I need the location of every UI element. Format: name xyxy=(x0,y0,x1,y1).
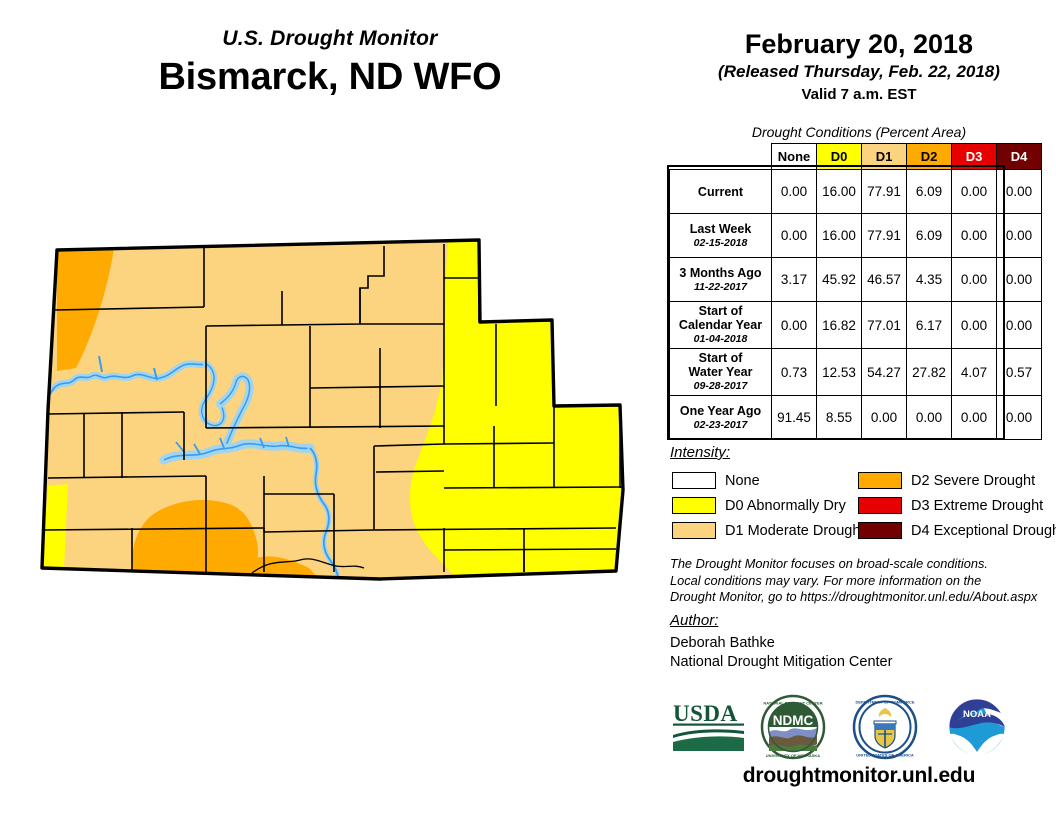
column-header-d0: D0 xyxy=(817,144,862,170)
program-title: U.S. Drought Monitor xyxy=(0,26,660,52)
cell-last-week-d4: 0.00 xyxy=(997,214,1042,258)
map-svg xyxy=(24,228,664,698)
cell-1yr-d0: 8.55 xyxy=(817,396,862,440)
cell-3mo-d4: 0.00 xyxy=(997,258,1042,302)
cell-current-none: 0.00 xyxy=(772,170,817,214)
cell-water-d3: 4.07 xyxy=(952,349,997,396)
legend-swatch-d4 xyxy=(858,522,902,539)
table-header-row: None D0 D1 D2 D3 D4 xyxy=(670,144,1042,170)
east-lake-2 xyxy=(640,288,662,294)
row-label-text: 3 Months Ago xyxy=(679,266,761,280)
valid-time: Valid 7 a.m. EST xyxy=(664,85,1054,105)
row-label-date: 02-15-2018 xyxy=(673,237,768,250)
author-heading: Author: xyxy=(670,612,718,629)
legend-swatch-d1 xyxy=(672,522,716,539)
table-corner-cell xyxy=(670,144,772,170)
table-row: Last Week 02-15-2018 0.00 16.00 77.91 6.… xyxy=(670,214,1042,258)
row-label-text: Current xyxy=(698,185,743,199)
svg-text:DEPARTMENT OF COMMERCE: DEPARTMENT OF COMMERCE xyxy=(855,700,914,705)
column-header-none: None xyxy=(772,144,817,170)
drought-conditions-table: None D0 D1 D2 D3 D4 Current 0.00 16.00 7… xyxy=(669,143,1042,440)
website-url: droughtmonitor.unl.edu xyxy=(664,764,1054,788)
cell-current-d0: 16.00 xyxy=(817,170,862,214)
cell-3mo-d1: 46.57 xyxy=(862,258,907,302)
cell-last-week-d2: 6.09 xyxy=(907,214,952,258)
disclaimer-block: The Drought Monitor focuses on broad-sca… xyxy=(670,556,1055,606)
cell-1yr-d1: 0.00 xyxy=(862,396,907,440)
cell-cal-d0: 16.82 xyxy=(817,302,862,349)
svg-text:UNITED STATES OF AMERICA: UNITED STATES OF AMERICA xyxy=(856,753,914,758)
legend-column-right: D2 Severe Drought D3 Extreme Drought D4 … xyxy=(858,468,1056,543)
column-header-d2: D2 xyxy=(907,144,952,170)
disclaimer-line-3: Drought Monitor, go to https://droughtmo… xyxy=(670,589,1055,606)
author-organization: National Drought Mitigation Center xyxy=(670,653,892,672)
legend-item-d3: D3 Extreme Drought xyxy=(858,493,1056,518)
table-row: 3 Months Ago 11-22-2017 3.17 45.92 46.57… xyxy=(670,258,1042,302)
table-row: Current 0.00 16.00 77.91 6.09 0.00 0.00 xyxy=(670,170,1042,214)
legend-item-d2: D2 Severe Drought xyxy=(858,468,1056,493)
table-row: One Year Ago 02-23-2017 91.45 8.55 0.00 … xyxy=(670,396,1042,440)
row-label-text: Start ofWater Year xyxy=(689,351,753,379)
table-row: Start ofCalendar Year 01-04-2018 0.00 16… xyxy=(670,302,1042,349)
row-label-last-week: Last Week 02-15-2018 xyxy=(670,214,772,258)
legend-label-d0: D0 Abnormally Dry xyxy=(725,498,846,514)
row-label-start-calendar-year: Start ofCalendar Year 01-04-2018 xyxy=(670,302,772,349)
cell-cal-d2: 6.17 xyxy=(907,302,952,349)
cell-3mo-d0: 45.92 xyxy=(817,258,862,302)
legend-item-none: None xyxy=(672,468,864,493)
legend-swatch-d2 xyxy=(858,472,902,489)
legend-column-left: None D0 Abnormally Dry D1 Moderate Droug… xyxy=(672,468,864,543)
legend-label-d3: D3 Extreme Drought xyxy=(911,498,1043,514)
legend-label-d4: D4 Exceptional Drought xyxy=(911,523,1056,539)
row-label-text: Start ofCalendar Year xyxy=(679,304,762,332)
report-date: February 20, 2018 xyxy=(664,28,1054,60)
usdc-logo: DEPARTMENT OF COMMERCE UNITED STATES OF … xyxy=(852,694,918,765)
cell-cal-d1: 77.01 xyxy=(862,302,907,349)
cell-last-week-d1: 77.91 xyxy=(862,214,907,258)
cell-water-d2: 27.82 xyxy=(907,349,952,396)
cell-water-d0: 12.53 xyxy=(817,349,862,396)
cell-last-week-d0: 16.00 xyxy=(817,214,862,258)
row-label-start-water-year: Start ofWater Year 09-28-2017 xyxy=(670,349,772,396)
cell-current-d4: 0.00 xyxy=(997,170,1042,214)
table-row: Start ofWater Year 09-28-2017 0.73 12.53… xyxy=(670,349,1042,396)
ndmc-logo: NDMC NATIONAL DROUGHT CENTER UNIVERSITY … xyxy=(760,694,826,765)
intensity-legend-title: Intensity: xyxy=(670,444,730,461)
row-label-date: 02-23-2017 xyxy=(673,419,768,432)
svg-text:NOAA: NOAA xyxy=(963,709,991,720)
usda-logo: USDA xyxy=(672,701,748,758)
row-label-date: 01-04-2018 xyxy=(673,333,768,346)
row-label-date: 09-28-2017 xyxy=(673,380,768,393)
cell-current-d1: 77.91 xyxy=(862,170,907,214)
legend-item-d0: D0 Abnormally Dry xyxy=(672,493,864,518)
table-caption: Drought Conditions (Percent Area) xyxy=(664,124,1054,141)
map-title-block: U.S. Drought Monitor Bismarck, ND WFO xyxy=(0,26,660,100)
drought-map[interactable] xyxy=(24,228,664,698)
legend-label-d1: D1 Moderate Drought xyxy=(725,523,864,539)
row-label-text: One Year Ago xyxy=(680,404,761,418)
cell-last-week-none: 0.00 xyxy=(772,214,817,258)
legend-label-none: None xyxy=(725,473,760,489)
legend-swatch-d3 xyxy=(858,497,902,514)
cell-cal-d3: 0.00 xyxy=(952,302,997,349)
legend-item-d4: D4 Exceptional Drought xyxy=(858,518,1056,543)
column-header-d1: D1 xyxy=(862,144,907,170)
author-name: Deborah Bathke xyxy=(670,634,892,653)
release-date: (Released Thursday, Feb. 22, 2018) xyxy=(664,61,1054,83)
map-fill-layer xyxy=(24,228,664,698)
cell-3mo-d3: 0.00 xyxy=(952,258,997,302)
east-lake-1 xyxy=(636,238,660,256)
table-body: Current 0.00 16.00 77.91 6.09 0.00 0.00 … xyxy=(670,170,1042,440)
cell-1yr-none: 91.45 xyxy=(772,396,817,440)
legend-swatch-none xyxy=(672,472,716,489)
legend-swatch-d0 xyxy=(672,497,716,514)
cell-water-none: 0.73 xyxy=(772,349,817,396)
region-title: Bismarck, ND WFO xyxy=(0,54,660,100)
cell-3mo-none: 3.17 xyxy=(772,258,817,302)
author-block: Deborah Bathke National Drought Mitigati… xyxy=(670,634,892,672)
disclaimer-line-1: The Drought Monitor focuses on broad-sca… xyxy=(670,556,1055,573)
svg-text:NATIONAL DROUGHT CENTER: NATIONAL DROUGHT CENTER xyxy=(763,701,822,706)
svg-text:UNIVERSITY OF NEBRASKA: UNIVERSITY OF NEBRASKA xyxy=(766,753,820,758)
cell-last-week-d3: 0.00 xyxy=(952,214,997,258)
cell-1yr-d2: 0.00 xyxy=(907,396,952,440)
svg-text:NDMC: NDMC xyxy=(773,713,814,728)
row-label-one-year-ago: One Year Ago 02-23-2017 xyxy=(670,396,772,440)
date-header-block: February 20, 2018 (Released Thursday, Fe… xyxy=(664,28,1054,105)
river-branches xyxy=(350,618,368,644)
cell-water-d4: 0.57 xyxy=(997,349,1042,396)
cell-cal-none: 0.00 xyxy=(772,302,817,349)
noaa-logo: NOAA xyxy=(944,694,1010,765)
row-label-3-months-ago: 3 Months Ago 11-22-2017 xyxy=(670,258,772,302)
column-header-d3: D3 xyxy=(952,144,997,170)
cell-current-d3: 0.00 xyxy=(952,170,997,214)
cell-water-d1: 54.27 xyxy=(862,349,907,396)
cell-1yr-d3: 0.00 xyxy=(952,396,997,440)
column-header-d4: D4 xyxy=(997,144,1042,170)
disclaimer-line-2: Local conditions may vary. For more info… xyxy=(670,573,1055,590)
legend-item-d1: D1 Moderate Drought xyxy=(672,518,864,543)
cell-1yr-d4: 0.00 xyxy=(997,396,1042,440)
row-label-current: Current xyxy=(670,170,772,214)
row-label-text: Last Week xyxy=(690,222,752,236)
row-label-date: 11-22-2017 xyxy=(673,281,768,294)
partner-logos: USDA NDMC NATIONAL DROUGHT CENTER UNIVER… xyxy=(664,692,1054,760)
svg-text:USDA: USDA xyxy=(673,701,738,726)
cell-3mo-d2: 4.35 xyxy=(907,258,952,302)
cell-current-d2: 6.09 xyxy=(907,170,952,214)
cell-cal-d4: 0.00 xyxy=(997,302,1042,349)
legend-label-d2: D2 Severe Drought xyxy=(911,473,1035,489)
